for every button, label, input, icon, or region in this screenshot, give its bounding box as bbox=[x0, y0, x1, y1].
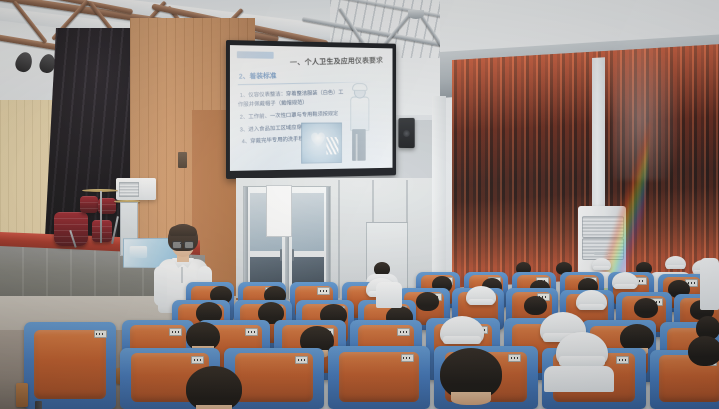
audience-shoulders bbox=[544, 366, 614, 392]
screen-glare bbox=[230, 45, 393, 171]
auditorium-photo: 一、个人卫生及应用仪表要求 2、着装标准 1、仪容仪表整洁：穿着整洁服装（白色）… bbox=[0, 0, 719, 409]
chef-hat bbox=[665, 256, 686, 269]
audience-head bbox=[634, 298, 658, 318]
wall-seam bbox=[338, 180, 340, 298]
audience-head bbox=[416, 292, 439, 311]
seat[interactable] bbox=[24, 322, 116, 409]
seat[interactable] bbox=[328, 346, 430, 409]
projection-screen-surface: 一、个人卫生及应用仪表要求 2、着装标准 1、仪容仪表整洁：穿着整洁服装（白色）… bbox=[230, 45, 393, 171]
chef-hat bbox=[592, 258, 611, 270]
wall-speaker bbox=[398, 118, 414, 148]
ceiling-lamp bbox=[408, 10, 424, 19]
door-notice bbox=[266, 185, 292, 237]
projection-screen[interactable]: 一、个人卫生及应用仪表要求 2、着装标准 1、仪容仪表整洁：穿着整洁服装（白色）… bbox=[226, 40, 396, 179]
audience-head bbox=[440, 348, 502, 400]
door-handle[interactable] bbox=[280, 249, 282, 261]
chef-hat bbox=[466, 286, 496, 305]
chef-hat bbox=[440, 316, 484, 344]
wall-switch[interactable] bbox=[178, 152, 187, 168]
door-handle[interactable] bbox=[292, 249, 294, 261]
audience-head bbox=[524, 296, 547, 315]
audience-shoulders bbox=[376, 282, 402, 308]
audience-head bbox=[688, 336, 719, 366]
audience-head bbox=[186, 366, 242, 409]
wall-column bbox=[432, 96, 446, 286]
chef-hat bbox=[612, 272, 638, 289]
standing-student bbox=[700, 258, 719, 310]
audience-head bbox=[186, 322, 220, 351]
chef-hat bbox=[576, 290, 607, 310]
